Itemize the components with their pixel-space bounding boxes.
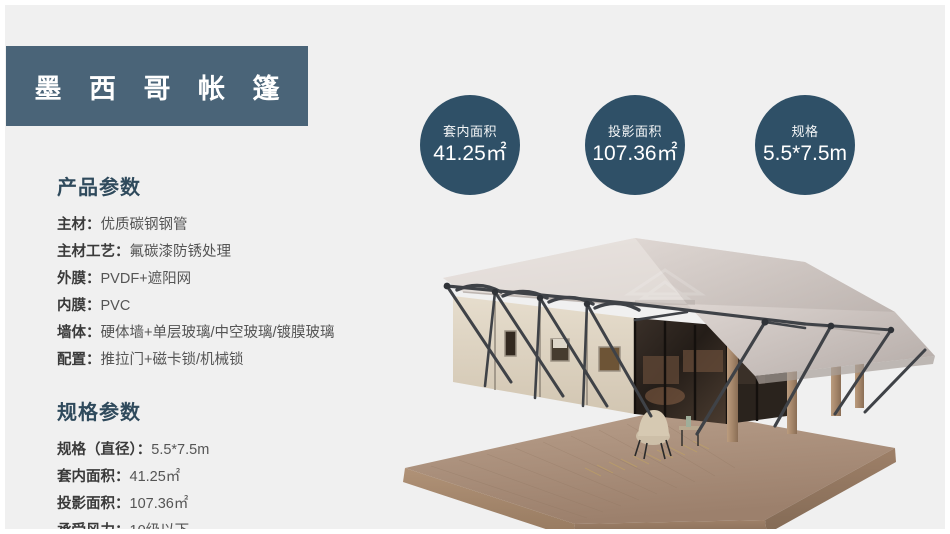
spec-label: 内膜： (57, 298, 101, 314)
spec-value: 推拉门+磁卡锁/机械锁 (101, 352, 244, 368)
tent-illustration (335, 200, 950, 534)
tent-render-image (335, 200, 950, 534)
section-heading: 产品参数 (57, 171, 387, 200)
badge-label: 投影面积 (608, 124, 662, 140)
badge-dimensions: 规格 5.5*7.5m (755, 95, 855, 195)
window (505, 331, 516, 356)
spec-label: 承受风力： (57, 523, 130, 534)
spec-label: 主材： (57, 217, 101, 233)
spec-value: 氟碳漆防锈处理 (130, 244, 232, 260)
spec-value: 41.25㎡ (130, 469, 181, 485)
spec-label: 墙体： (57, 325, 101, 341)
spec-value: 硬体墙+单层玻璃/中空玻璃/镀膜玻璃 (101, 325, 335, 341)
spec-label: 外膜： (57, 271, 101, 287)
spec-label: 投影面积： (57, 496, 130, 512)
spec-value: 107.36㎡ (130, 496, 189, 512)
spec-value: 10级以下 (130, 523, 190, 534)
spec-value: 优质碳钢钢管 (101, 217, 188, 233)
product-spec-page: 墨 西 哥 帐 篷 套内面积 41.25㎡ 投影面积 107.36㎡ 规格 5.… (0, 0, 950, 534)
spec-label: 套内面积： (57, 469, 130, 485)
cabin-walls (453, 296, 635, 414)
badge-value: 5.5*7.5m (763, 142, 847, 166)
badge-value: 107.36㎡ (592, 142, 677, 166)
page-title: 墨 西 哥 帐 篷 (24, 67, 289, 106)
spec-value: PVC (101, 298, 131, 314)
badge-label: 规格 (791, 124, 818, 140)
spec-label: 主材工艺： (57, 244, 130, 260)
spec-label: 配置： (57, 352, 101, 368)
badge-projected-area: 投影面积 107.36㎡ (585, 95, 685, 195)
badge-value: 41.25㎡ (433, 142, 507, 166)
spec-value: PVDF+遮阳网 (101, 271, 192, 287)
badge-label: 套内面积 (443, 124, 497, 140)
badge-interior-area: 套内面积 41.25㎡ (420, 95, 520, 195)
spec-label: 规格（直径）： (57, 442, 151, 458)
title-banner: 墨 西 哥 帐 篷 (6, 46, 308, 126)
spec-value: 5.5*7.5m (151, 442, 209, 458)
